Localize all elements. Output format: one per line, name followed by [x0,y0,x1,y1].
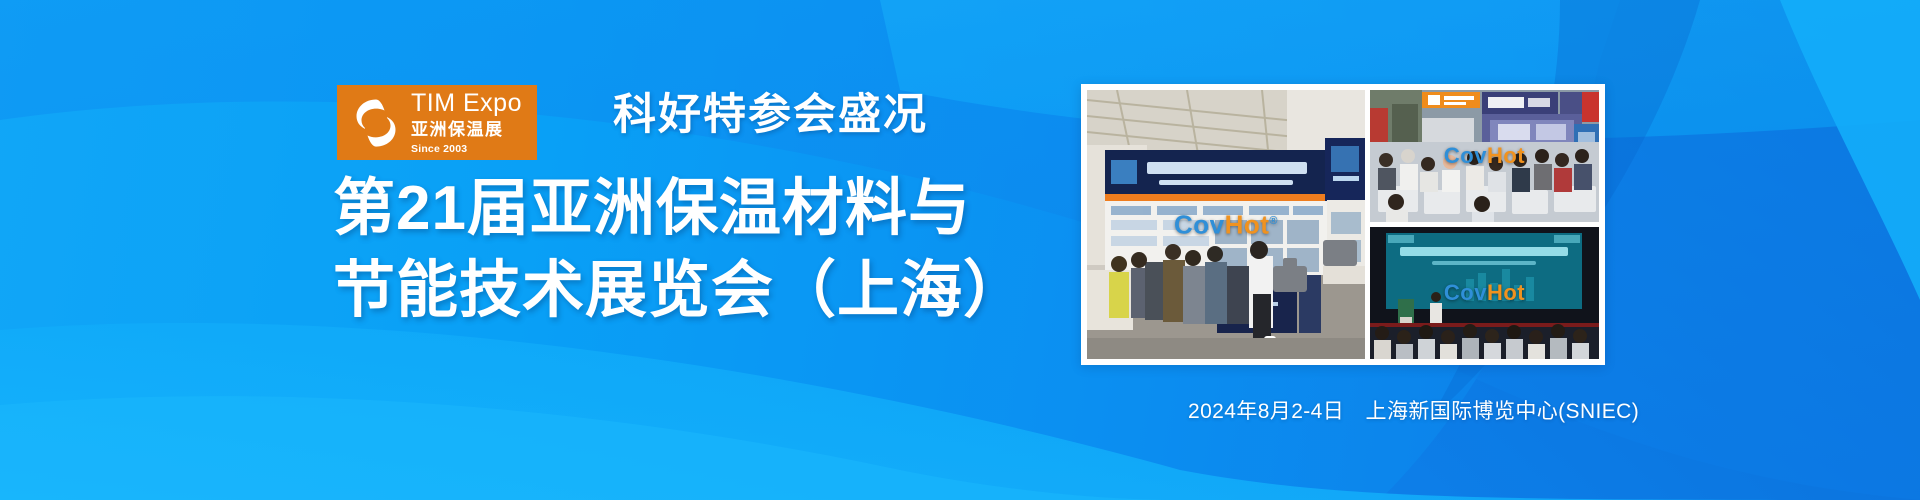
photo-collage: CovHot® [1081,84,1605,365]
collage-right-column: CovHot [1370,90,1599,359]
logo-english-name: TIM Expo [411,91,522,116]
logo-since-year: Since 2003 [411,144,522,155]
hall-photo[interactable]: CovHot [1370,90,1599,222]
exhibition-promo-banner: TIM Expo 亚洲保温展 Since 2003 科好特参会盛况 第21届亚洲… [0,0,1920,500]
forum-photo[interactable]: CovHot [1370,227,1599,359]
swirl-yin-yang-icon [347,94,405,152]
headline-line-2: 节能技术展览会（上海） [333,250,1026,332]
headline-line-1: 第21届亚洲保温材料与 [333,168,1026,250]
hall-photo-art [1370,90,1599,222]
hero-headline: 第21届亚洲保温材料与 节能技术展览会（上海） [333,168,1026,333]
date-venue-line: 2024年8月2-4日 上海新国际博览中心(SNIEC) [1188,395,1639,425]
forum-photo-art [1370,227,1599,359]
booth-photo[interactable]: CovHot® [1087,90,1365,359]
logo-text-block: TIM Expo 亚洲保温展 Since 2003 [411,91,522,155]
hero-subtitle: 科好特参会盛况 [613,80,928,142]
tim-expo-logo-badge[interactable]: TIM Expo 亚洲保温展 Since 2003 [337,85,537,160]
logo-chinese-name: 亚洲保温展 [411,121,522,138]
booth-photo-art [1087,90,1365,359]
